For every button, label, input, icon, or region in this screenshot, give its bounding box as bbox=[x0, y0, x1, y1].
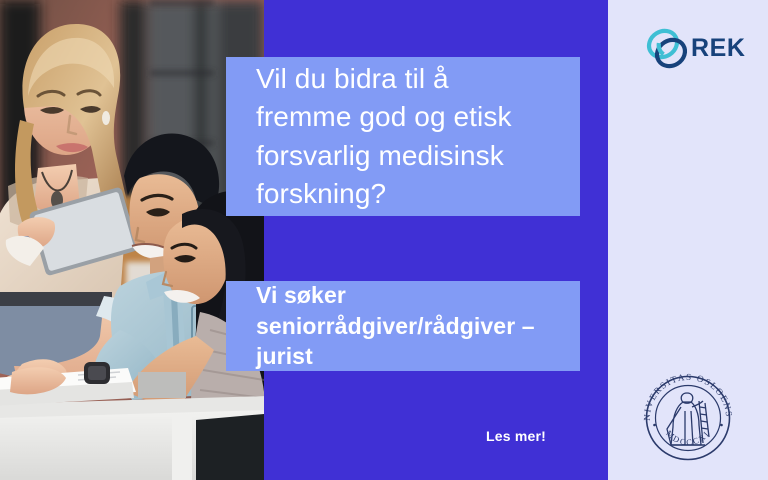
rek-wordmark: REK bbox=[691, 36, 746, 61]
read-more-link[interactable]: Les mer! bbox=[226, 428, 580, 444]
interlocking-rings-icon bbox=[646, 25, 690, 71]
job-title-text: Vi søker seniorrådgiver/rådgiver – juris… bbox=[256, 280, 550, 372]
rek-logo[interactable]: REK bbox=[646, 24, 742, 72]
uio-seal-icon: UNIVERSITAS OSLOENSIS MDCCCXI bbox=[637, 367, 739, 469]
headline-box: Vil du bidra til å fremme god og etisk f… bbox=[226, 57, 580, 216]
team-photo: Three colleagues at a desk looking at a … bbox=[0, 0, 264, 480]
job-title-box: Vi søker seniorrådgiver/rådgiver – juris… bbox=[226, 281, 580, 371]
photo-illustration bbox=[0, 0, 264, 480]
headline-text: Vil du bidra til å fremme god og etisk f… bbox=[256, 60, 550, 213]
uio-seal[interactable]: UNIVERSITAS OSLOENSIS MDCCCXI bbox=[637, 367, 739, 469]
recruitment-banner: Three colleagues at a desk looking at a … bbox=[0, 0, 768, 480]
